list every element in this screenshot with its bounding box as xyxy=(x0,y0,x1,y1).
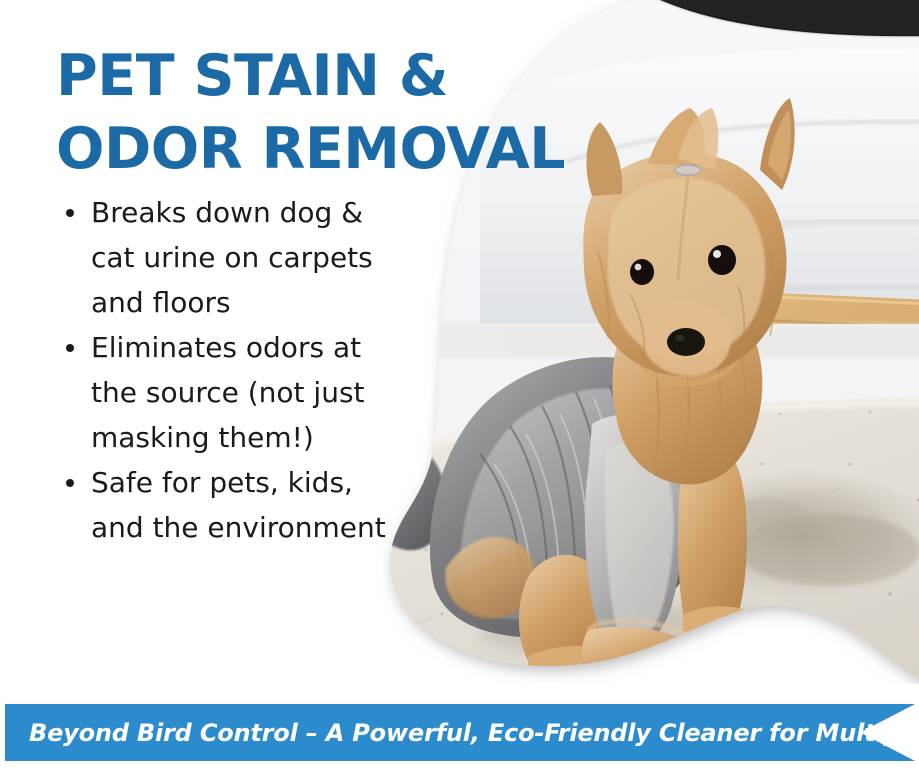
promo-graphic: PET STAIN & ODOR REMOVAL Breaks down dog… xyxy=(0,0,919,775)
list-item: Breaks down dog & cat urine on carpets a… xyxy=(58,190,388,325)
tagline-text: Beyond Bird Control – A Powerful, Eco-Fr… xyxy=(29,704,919,761)
benefits-list: Breaks down dog & cat urine on carpets a… xyxy=(58,190,388,550)
list-item: Eliminates odors at the source (not just… xyxy=(58,325,388,460)
page-title: PET STAIN & ODOR REMOVAL xyxy=(56,40,656,186)
tagline-banner: Beyond Bird Control – A Powerful, Eco-Fr… xyxy=(5,704,915,761)
list-item: Safe for pets, kids, and the environment xyxy=(58,460,388,550)
